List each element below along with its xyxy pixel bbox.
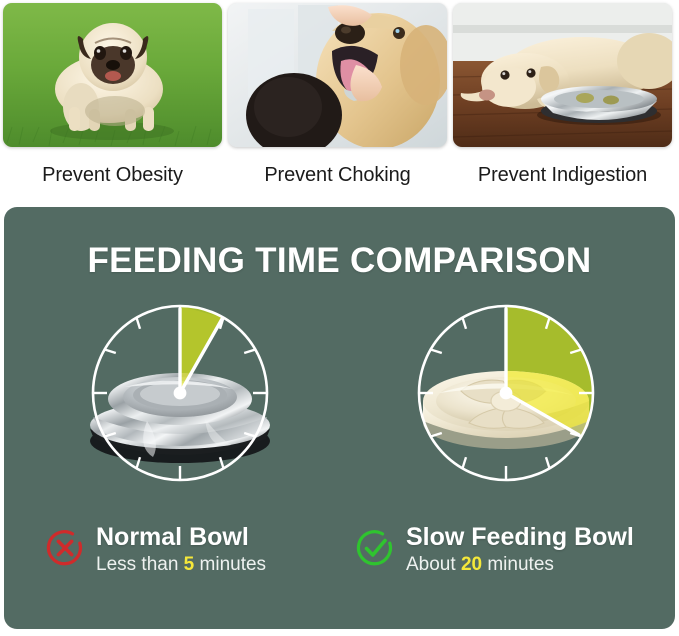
legend-row: Normal Bowl Less than 5 minutes Slow Fee…: [4, 523, 675, 605]
legend-title: Slow Feeding Bowl: [406, 523, 634, 551]
clock-row: [4, 289, 675, 499]
clock-normal-bowl: [55, 289, 305, 499]
page-title: FEEDING TIME COMPARISON: [4, 207, 675, 281]
legend-item-slow-feeding-bowl: Slow Feeding Bowl About 20 minutes: [355, 523, 634, 577]
legend-item-normal-bowl: Normal Bowl Less than 5 minutes: [45, 523, 266, 577]
legend-sub-value: 5: [184, 554, 195, 575]
legend-sub-suffix: minutes: [194, 554, 266, 575]
photo-labrador-lying-next-to-bowl: [453, 3, 672, 147]
legend-sub-prefix: Less than: [96, 554, 184, 575]
legend-sub-suffix: minutes: [482, 554, 554, 575]
legend-text-slow: Slow Feeding Bowl About 20 minutes: [406, 523, 634, 577]
circle-x-icon: [45, 528, 85, 568]
benefit-card-choking: Prevent Choking: [228, 3, 447, 187]
photo-person-checking-dog-mouth: [228, 3, 447, 147]
legend-sub-value: 20: [461, 554, 482, 575]
clock-slow-feeding-bowl: [381, 289, 631, 499]
circle-check-icon: [355, 528, 395, 568]
feeding-time-comparison-panel: FEEDING TIME COMPARISON: [4, 207, 675, 629]
legend-subtitle: Less than 5 minutes: [96, 553, 266, 577]
legend-title: Normal Bowl: [96, 523, 266, 551]
photo-overweight-pug-on-grass: [3, 3, 222, 147]
benefit-card-obesity: Prevent Obesity: [3, 3, 222, 187]
benefit-caption: Prevent Choking: [264, 164, 410, 187]
legend-subtitle: About 20 minutes: [406, 553, 634, 577]
benefit-caption: Prevent Indigestion: [478, 164, 647, 187]
benefit-card-indigestion: Prevent Indigestion: [453, 3, 672, 187]
legend-sub-prefix: About: [406, 554, 461, 575]
legend-text-normal: Normal Bowl Less than 5 minutes: [96, 523, 266, 577]
benefit-caption: Prevent Obesity: [42, 164, 183, 187]
benefits-strip: Prevent Obesity: [0, 0, 679, 187]
